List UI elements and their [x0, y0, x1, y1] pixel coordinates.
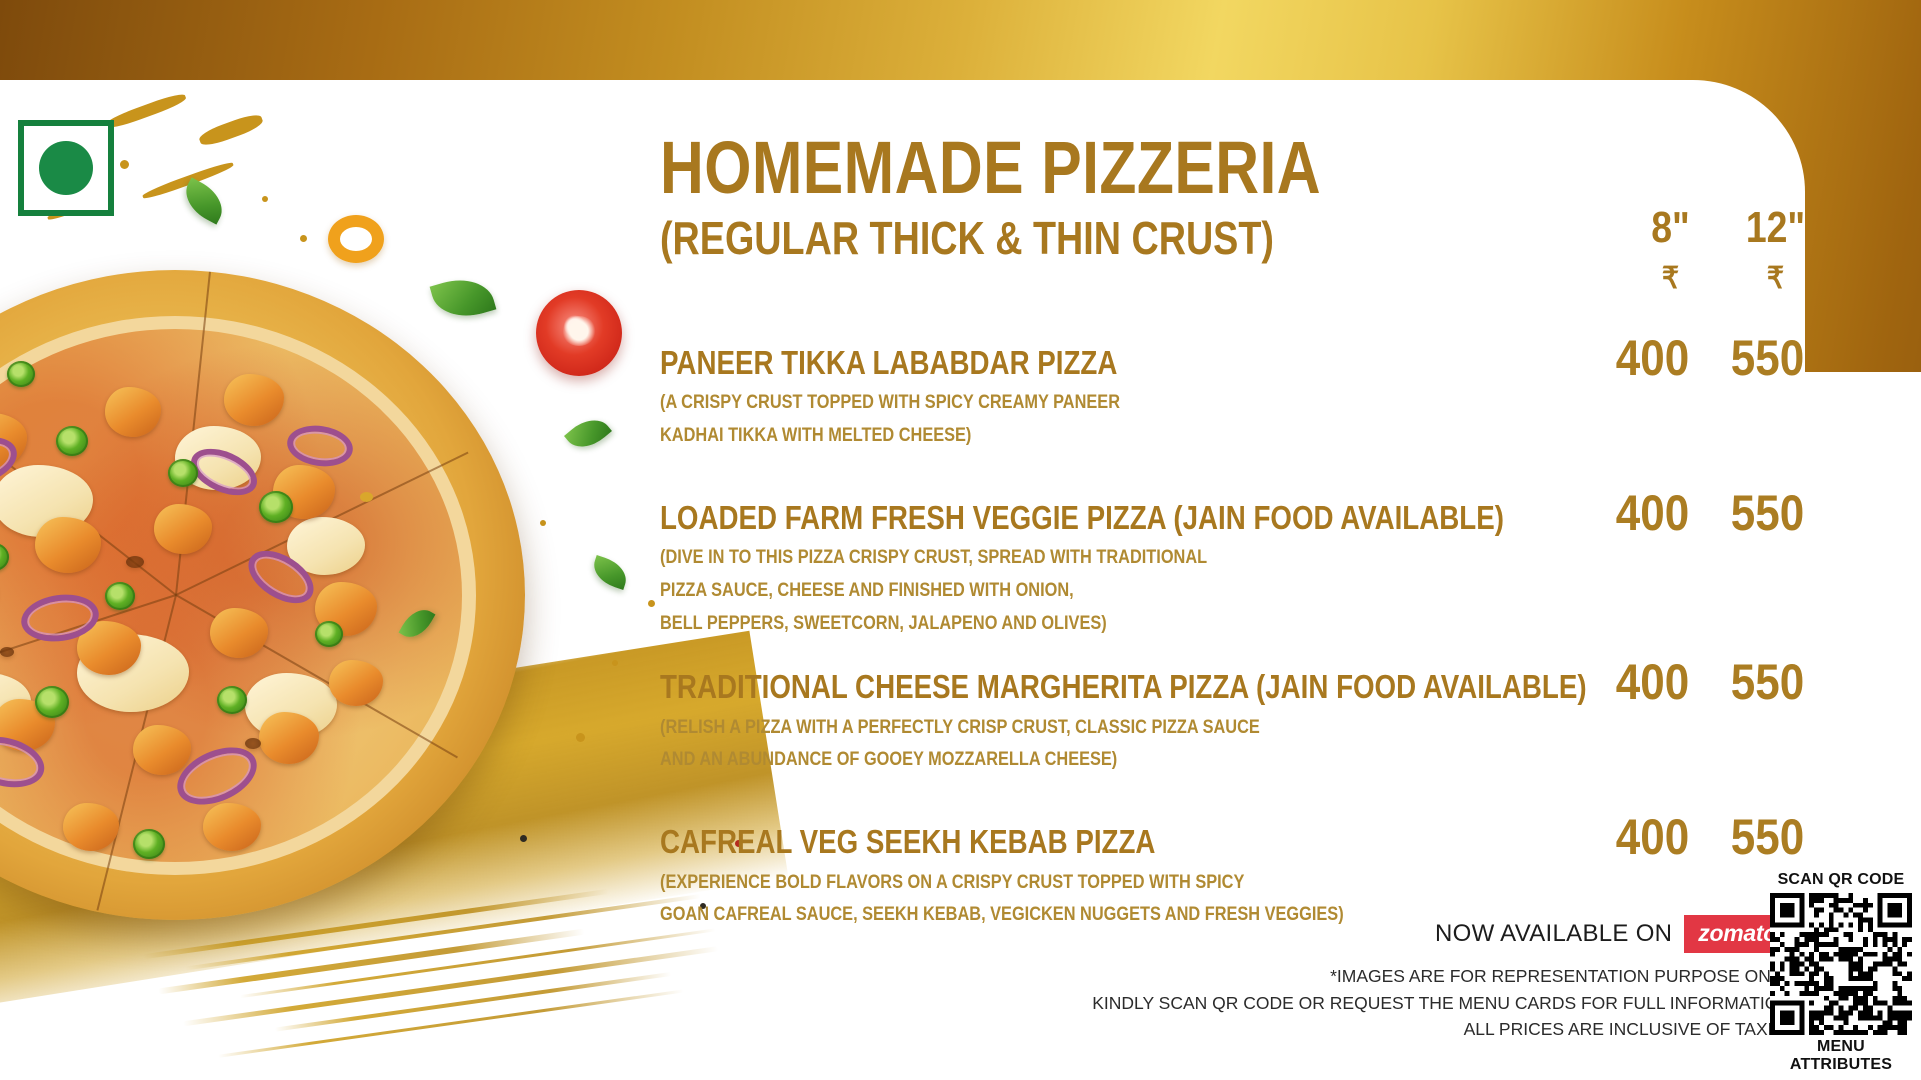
- menu-item-prices: 400 550: [1595, 333, 1825, 383]
- menu-item-price-small: 400: [1602, 657, 1703, 707]
- vegetarian-symbol-icon: [18, 120, 114, 216]
- menu-item-description-line: (A CRISPY CRUST TOPPED WITH SPICY CREAMY…: [660, 388, 1744, 419]
- menu-item-prices: 400 550: [1595, 812, 1825, 862]
- menu-item-description-line: BELL PEPPERS, SWEETCORN, JALAPENO AND OL…: [660, 609, 1744, 640]
- menu-poster: HOMEMADE PIZZERIA (REGULAR THICK & THIN …: [0, 0, 1921, 1080]
- menu-item-name: LOADED FARM FRESH VEGGIE PIZZA (JAIN FOO…: [660, 500, 1718, 536]
- qr-code-block[interactable]: SCAN QR CODE MENU ATTRIBUTES: [1767, 871, 1915, 1074]
- price-column-small: 8" ₹: [1618, 206, 1723, 294]
- qr-code-icon[interactable]: [1770, 893, 1912, 1035]
- menu-item-price-small: 400: [1602, 812, 1703, 862]
- pizza-base: [0, 270, 525, 920]
- menu-item-name: TRADITIONAL CHEESE MARGHERITA PIZZA (JAI…: [660, 669, 1718, 705]
- qr-caption-bottom: MENU ATTRIBUTES: [1767, 1038, 1915, 1074]
- size-label-small: 8": [1626, 206, 1715, 250]
- qr-caption-top: SCAN QR CODE: [1767, 871, 1915, 889]
- size-label-large: 12": [1731, 206, 1820, 250]
- disclaimer-line: *IMAGES ARE FOR REPRESENTATION PURPOSE O…: [1092, 963, 1791, 989]
- tomato-core: [562, 316, 596, 346]
- bell-pepper-ring-garnish: [328, 215, 384, 263]
- currency-symbol-large: ₹: [1728, 264, 1823, 294]
- menu-item: TRADITIONAL CHEESE MARGHERITA PIZZA (JAI…: [660, 669, 1920, 776]
- menu-item-description-line: (RELISH A PIZZA WITH A PERFECTLY CRISP C…: [660, 713, 1744, 744]
- vegetarian-symbol-dot: [39, 141, 93, 195]
- currency-symbol-small: ₹: [1623, 264, 1718, 294]
- menu-item-price-large: 550: [1717, 333, 1818, 383]
- menu-item-description-line: AND AN ABUNDANCE OF GOOEY MOZZARELLA CHE…: [660, 745, 1744, 776]
- menu-item-price-small: 400: [1602, 488, 1703, 538]
- delivery-partner-row: NOW AVAILABLE ON zomato: [1092, 915, 1791, 953]
- menu-item-description-line: PIZZA SAUCE, CHEESE AND FINISHED WITH ON…: [660, 576, 1744, 607]
- pizza-photo: [0, 270, 525, 920]
- menu-item-price-small: 400: [1602, 333, 1703, 383]
- menu-item-prices: 400 550: [1595, 657, 1825, 707]
- disclaimer-line: KINDLY SCAN QR CODE OR REQUEST THE MENU …: [1092, 990, 1791, 1016]
- menu-item-description-line: KADHAI TIKKA WITH MELTED CHEESE): [660, 421, 1744, 452]
- menu-item-description-line: (DIVE IN TO THIS PIZZA CRISPY CRUST, SPR…: [660, 543, 1744, 574]
- menu-item: LOADED FARM FRESH VEGGIE PIZZA (JAIN FOO…: [660, 500, 1920, 640]
- available-on-label: NOW AVAILABLE ON: [1435, 920, 1672, 948]
- menu-item-name: PANEER TIKKA LABABDAR PIZZA: [660, 345, 1718, 381]
- footer-block: NOW AVAILABLE ON zomato *IMAGES ARE FOR …: [1092, 915, 1791, 1042]
- menu-item-description-line: (EXPERIENCE BOLD FLAVORS ON A CRISPY CRU…: [660, 868, 1744, 899]
- menu-item: PANEER TIKKA LABABDAR PIZZA (A CRISPY CR…: [660, 345, 1920, 452]
- tomato-slice-garnish: [536, 290, 622, 376]
- menu-item-price-large: 550: [1717, 488, 1818, 538]
- page-subtitle: (REGULAR THICK & THIN CRUST): [660, 211, 1677, 265]
- disclaimer-line: ALL PRICES ARE INCLUSIVE OF TAXES: [1092, 1016, 1791, 1042]
- price-column-large: 12" ₹: [1723, 206, 1828, 294]
- price-column-header: 8" ₹ 12" ₹: [1618, 206, 1828, 294]
- corn-bit-garnish: [360, 492, 373, 502]
- menu-item-price-large: 550: [1717, 812, 1818, 862]
- menu-item-price-large: 550: [1717, 657, 1818, 707]
- page-title: HOMEMADE PIZZERIA: [660, 130, 1677, 205]
- menu-item-prices: 400 550: [1595, 488, 1825, 538]
- menu-item-list: PANEER TIKKA LABABDAR PIZZA (A CRISPY CR…: [660, 345, 1920, 931]
- menu-item-name: CAFREAL VEG SEEKH KEBAB PIZZA: [660, 824, 1718, 860]
